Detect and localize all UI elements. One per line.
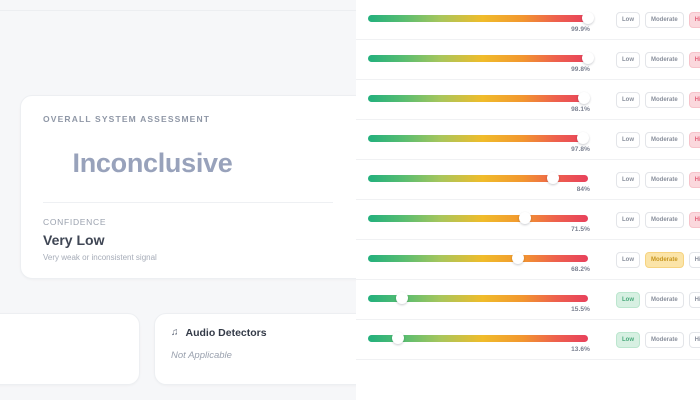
risk-level-badges: LowModerateHigh [602,12,700,28]
badge-high[interactable]: High [689,252,700,268]
score-slider[interactable]: 97.8% [366,120,602,160]
risk-level-badges: LowModerateHigh [602,292,700,308]
badge-low[interactable]: Low [616,172,640,188]
verdict-container: Inconclusive [43,124,356,202]
confidence-label: CONFIDENCE [43,217,356,227]
slider-track[interactable] [368,255,588,262]
slider-value-label: 68.2% [571,266,590,273]
badge-moderate[interactable]: Moderate [645,212,684,228]
badge-high[interactable]: High [689,212,700,228]
slider-track[interactable] [368,215,588,222]
detector-card-title: Audio Detectors [186,327,267,339]
detector-card-blank[interactable] [0,313,140,385]
slider-row: 71.5%LowModerateHigh [356,200,700,240]
detector-card-header: ♫ Audio Detectors [171,327,352,339]
score-slider[interactable]: 99.9% [366,0,602,40]
badge-high[interactable]: High [689,292,700,308]
slider-handle[interactable] [519,212,531,224]
music-note-icon: ♫ [171,328,179,338]
panel-top-strip [0,0,356,11]
badge-high[interactable]: High [689,332,700,348]
slider-row: 99.9%LowModerateHigh [356,0,700,40]
badge-low[interactable]: Low [616,12,640,28]
badge-high[interactable]: High [689,12,700,28]
slider-value-label: 71.5% [571,226,590,233]
badge-moderate[interactable]: Moderate [645,252,684,268]
badge-low[interactable]: Low [616,92,640,108]
slider-value-label: 99.8% [571,66,590,73]
assessment-section-label: OVERALL SYSTEM ASSESSMENT [43,114,356,124]
risk-level-badges: LowModerateHigh [602,252,700,268]
risk-level-badges: LowModerateHigh [602,172,700,188]
badge-low[interactable]: Low [616,252,640,268]
risk-level-badges: LowModerateHigh [602,332,700,348]
detector-card-status: Not Applicable [171,350,352,361]
slider-row: 99.8%LowModerateHigh [356,40,700,80]
slider-row: 84%LowModerateHigh [356,160,700,200]
slider-track[interactable] [368,55,588,62]
slider-value-label: 15.5% [571,306,590,313]
slider-value-label: 99.9% [571,26,590,33]
badge-moderate[interactable]: Moderate [645,332,684,348]
score-slider[interactable]: 98.1% [366,80,602,120]
risk-level-badges: LowModerateHigh [602,132,700,148]
slider-list-panel: 99.9%LowModerateHigh99.8%LowModerateHigh… [356,0,700,400]
confidence-block: CONFIDENCE Very Low Very weak or inconsi… [43,203,356,262]
score-slider[interactable]: 13.6% [366,320,602,360]
badge-moderate[interactable]: Moderate [645,92,684,108]
slider-row: 98.1%LowModerateHigh [356,80,700,120]
badge-moderate[interactable]: Moderate [645,292,684,308]
slider-value-label: 97.8% [571,146,590,153]
slider-handle[interactable] [582,12,594,24]
badge-low[interactable]: Low [616,332,640,348]
badge-high[interactable]: High [689,172,700,188]
slider-handle[interactable] [582,52,594,64]
slider-value-label: 13.6% [571,346,590,353]
risk-level-badges: LowModerateHigh [602,212,700,228]
slider-value-label: 98.1% [571,106,590,113]
badge-moderate[interactable]: Moderate [645,52,684,68]
slider-rows: 99.9%LowModerateHigh99.8%LowModerateHigh… [356,0,700,360]
verdict-text: Inconclusive [73,148,233,179]
slider-row: 15.5%LowModerateHigh [356,280,700,320]
badge-low[interactable]: Low [616,52,640,68]
badge-moderate[interactable]: Moderate [645,12,684,28]
score-slider[interactable]: 15.5% [366,280,602,320]
confidence-note: Very weak or inconsistent signal [43,253,356,262]
badge-high[interactable]: High [689,132,700,148]
risk-level-badges: LowModerateHigh [602,92,700,108]
badge-low[interactable]: Low [616,212,640,228]
slider-value-label: 84% [577,186,590,193]
detector-card-audio[interactable]: ♫ Audio Detectors Not Applicable [154,313,356,385]
slider-track[interactable] [368,95,588,102]
app-root: OVERALL SYSTEM ASSESSMENT Inconclusive C… [0,0,700,400]
slider-handle[interactable] [512,252,524,264]
risk-level-badges: LowModerateHigh [602,52,700,68]
slider-row: 68.2%LowModerateHigh [356,240,700,280]
slider-track[interactable] [368,15,588,22]
badge-low[interactable]: Low [616,132,640,148]
score-slider[interactable]: 71.5% [366,200,602,240]
badge-moderate[interactable]: Moderate [645,132,684,148]
slider-row: 13.6%LowModerateHigh [356,320,700,360]
badge-high[interactable]: High [689,52,700,68]
slider-handle[interactable] [547,172,559,184]
badge-moderate[interactable]: Moderate [645,172,684,188]
slider-row: 97.8%LowModerateHigh [356,120,700,160]
slider-handle[interactable] [392,332,404,344]
detector-cards-row: ♫ Audio Detectors Not Applicable [0,313,356,385]
badge-high[interactable]: High [689,92,700,108]
slider-track[interactable] [368,135,588,142]
slider-handle[interactable] [577,132,589,144]
score-slider[interactable]: 99.8% [366,40,602,80]
overall-assessment-card: OVERALL SYSTEM ASSESSMENT Inconclusive C… [20,95,356,279]
score-slider[interactable]: 84% [366,160,602,200]
assessment-panel: OVERALL SYSTEM ASSESSMENT Inconclusive C… [0,0,356,400]
slider-handle[interactable] [578,92,590,104]
slider-handle[interactable] [396,292,408,304]
score-slider[interactable]: 68.2% [366,240,602,280]
badge-low[interactable]: Low [616,292,640,308]
confidence-value: Very Low [43,232,356,248]
